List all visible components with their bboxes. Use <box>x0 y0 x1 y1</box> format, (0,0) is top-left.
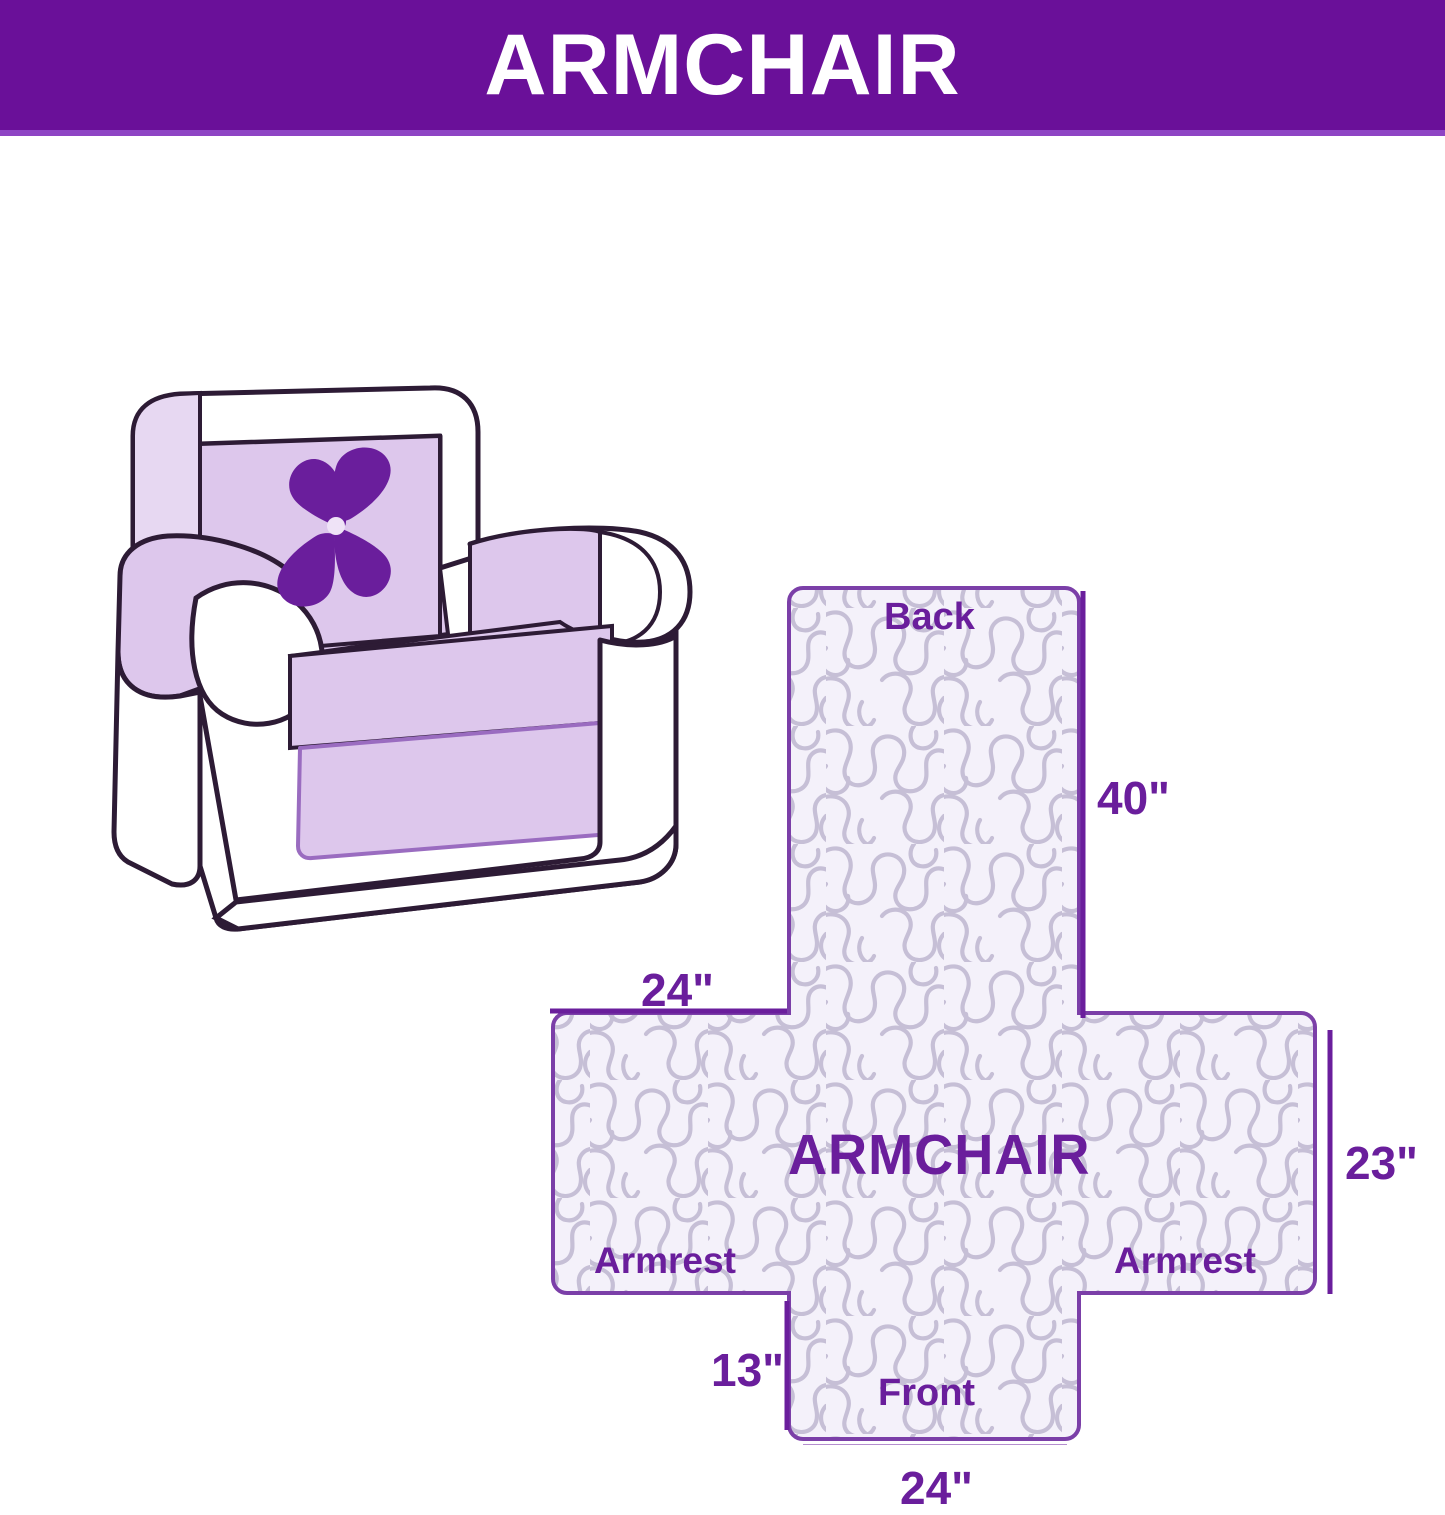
panel-label-armrest-right: Armrest <box>1114 1240 1256 1282</box>
page-title: ARMCHAIR <box>0 0 1445 130</box>
dimension-label-front-drop: 13" <box>711 1343 784 1397</box>
dimension-label-body-height: 23" <box>1345 1136 1418 1190</box>
dimension-label-front-width: 24" <box>900 1461 973 1515</box>
panel-label-front: Front <box>878 1372 975 1415</box>
dimension-label-back-height: 40" <box>1097 771 1170 825</box>
panel-label-armchair-center: ARMCHAIR <box>788 1122 1090 1188</box>
panel-label-armrest-left: Armrest <box>594 1240 736 1282</box>
dimension-label-back-width: 24" <box>641 963 714 1017</box>
diagram-canvas: Back ARMCHAIR Armrest Armrest Front 40" … <box>0 136 1445 1445</box>
armchair-illustration <box>114 388 690 929</box>
panel-label-back: Back <box>884 596 975 639</box>
